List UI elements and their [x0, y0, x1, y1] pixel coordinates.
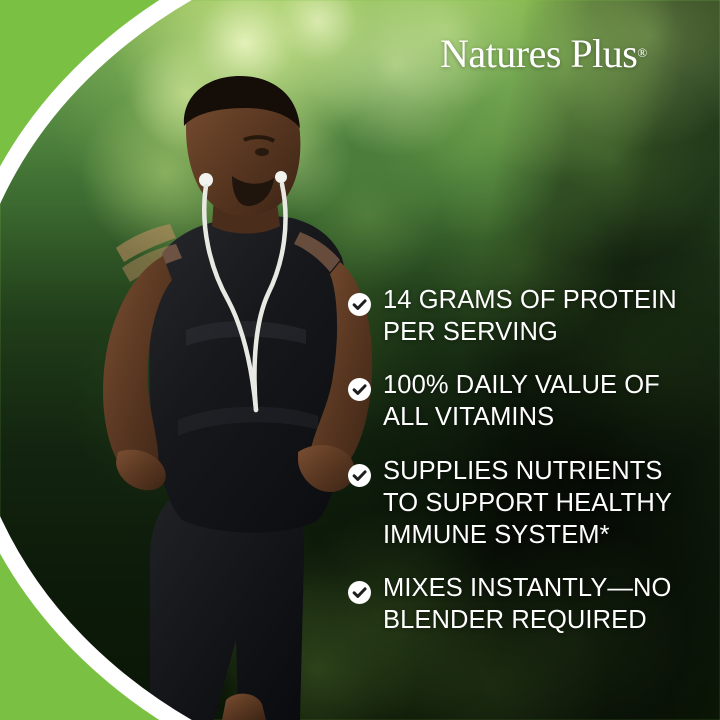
check-circle-icon [348, 464, 371, 487]
benefit-item: 14 grams of protein per serving [348, 284, 700, 348]
benefit-label: Supplies nutrients to support healthy im… [383, 455, 672, 551]
benefit-label: 14 grams of protein per serving [383, 284, 677, 348]
benefit-item: Mixes instantly—no blender required [348, 572, 700, 636]
benefit-item: Supplies nutrients to support healthy im… [348, 455, 700, 551]
check-circle-icon [348, 293, 371, 316]
benefit-label: Mixes instantly—no blender required [383, 572, 671, 636]
check-circle-icon [348, 378, 371, 401]
benefit-item: 100% daily value of all vitamins [348, 369, 700, 433]
check-circle-icon [348, 581, 371, 604]
product-benefits-banner: Natures Plus® 14 grams of protein per se… [0, 0, 720, 720]
brand-logo-text: Natures Plus [440, 31, 637, 76]
benefits-list: 14 grams of protein per serving 100% dai… [348, 284, 700, 636]
benefit-label: 100% daily value of all vitamins [383, 369, 660, 433]
registered-trademark-icon: ® [637, 45, 647, 60]
brand-logo: Natures Plus® [440, 34, 690, 74]
